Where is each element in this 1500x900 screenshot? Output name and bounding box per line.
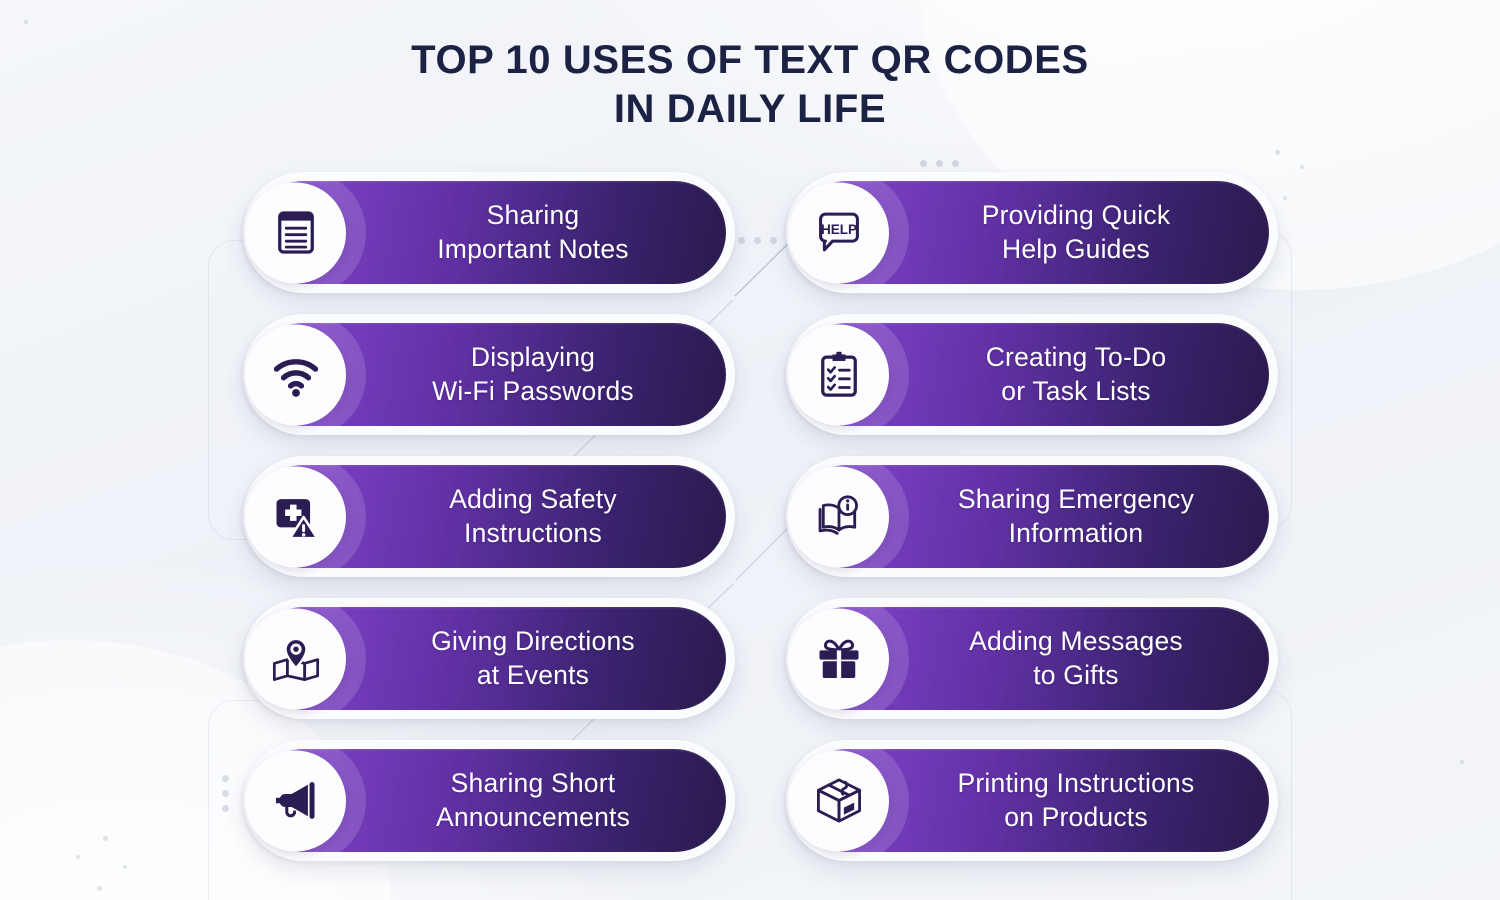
card-label-line-2: on Products [909,801,1243,835]
safety-warning-icon [270,491,322,543]
card-label-line-1: Sharing [487,200,580,230]
use-card-sharing-short-announcements[interactable]: Sharing Short Announcements [243,740,735,861]
card-label-line-1: Providing Quick [982,200,1171,230]
use-card-providing-quick-help-guides[interactable]: Providing Quick Help Guides HELP [786,172,1278,293]
card-label-line-2: to Gifts [909,659,1243,693]
card-label: Sharing Short Announcements [356,767,726,834]
card-label-line-1: Creating To-Do [986,342,1167,372]
use-card-creating-todo-task-lists[interactable]: Creating To-Do or Task Lists [786,314,1278,435]
use-card-sharing-emergency-information[interactable]: Sharing Emergency Information [786,456,1278,577]
page-title: TOP 10 USES OF TEXT QR CODES IN DAILY LI… [0,36,1500,134]
card-label-line-1: Displaying [471,342,595,372]
package-box-icon [813,775,865,827]
megaphone-icon [270,775,322,827]
help-speech-bubble-icon: HELP [813,207,865,259]
card-label-line-1: Sharing Emergency [958,484,1194,514]
use-card-adding-safety-instructions[interactable]: Adding Safety Instructions [243,456,735,577]
card-label-line-2: Instructions [366,517,700,551]
book-info-icon [813,491,865,543]
uses-card-grid: Sharing Important Notes Providing Quick [243,172,1278,861]
card-icon-badge [788,324,889,425]
card-label-line-1: Giving Directions [431,626,635,656]
decor-dots-horizontal [920,160,959,167]
page-title-line-2: IN DAILY LIFE [0,85,1500,134]
card-icon-badge: HELP [788,182,889,283]
card-label-line-2: or Task Lists [909,375,1243,409]
card-label: Creating To-Do or Task Lists [899,341,1269,408]
document-notes-icon [270,207,322,259]
card-label-line-1: Adding Messages [969,626,1183,656]
card-label-line-1: Sharing Short [451,768,616,798]
card-icon-badge [245,608,346,709]
use-card-sharing-important-notes[interactable]: Sharing Important Notes [243,172,735,293]
page-title-line-1: TOP 10 USES OF TEXT QR CODES [0,36,1500,85]
use-card-giving-directions-at-events[interactable]: Giving Directions at Events [243,598,735,719]
card-label-line-1: Adding Safety [449,484,617,514]
card-label: Sharing Important Notes [356,199,726,266]
card-label: Displaying Wi-Fi Passwords [356,341,726,408]
card-label-line-1: Printing Instructions [958,768,1195,798]
card-icon-badge [245,750,346,851]
wifi-icon [270,349,322,401]
card-label-line-2: Information [909,517,1243,551]
help-icon-text: HELP [820,222,856,237]
card-label-line-2: at Events [366,659,700,693]
card-label: Giving Directions at Events [356,625,726,692]
card-label: Adding Safety Instructions [356,483,726,550]
card-label: Printing Instructions on Products [899,767,1269,834]
use-card-displaying-wifi-passwords[interactable]: Displaying Wi-Fi Passwords [243,314,735,435]
card-label-line-2: Wi-Fi Passwords [366,375,700,409]
card-label: Providing Quick Help Guides [899,199,1269,266]
card-icon-badge [788,466,889,567]
card-icon-badge [245,466,346,567]
use-card-printing-instructions-on-products[interactable]: Printing Instructions on Products [786,740,1278,861]
use-card-adding-messages-to-gifts[interactable]: Adding Messages to Gifts [786,598,1278,719]
decor-dots-vertical [222,775,229,812]
card-label-line-2: Announcements [366,801,700,835]
map-pin-icon [270,633,322,685]
card-icon-badge [245,324,346,425]
card-icon-badge [788,608,889,709]
card-label: Adding Messages to Gifts [899,625,1269,692]
card-label-line-2: Help Guides [909,233,1243,267]
card-icon-badge [788,750,889,851]
card-icon-badge [245,182,346,283]
gift-box-icon [813,633,865,685]
card-label: Sharing Emergency Information [899,483,1269,550]
card-label-line-2: Important Notes [366,233,700,267]
clipboard-checklist-icon [813,349,865,401]
